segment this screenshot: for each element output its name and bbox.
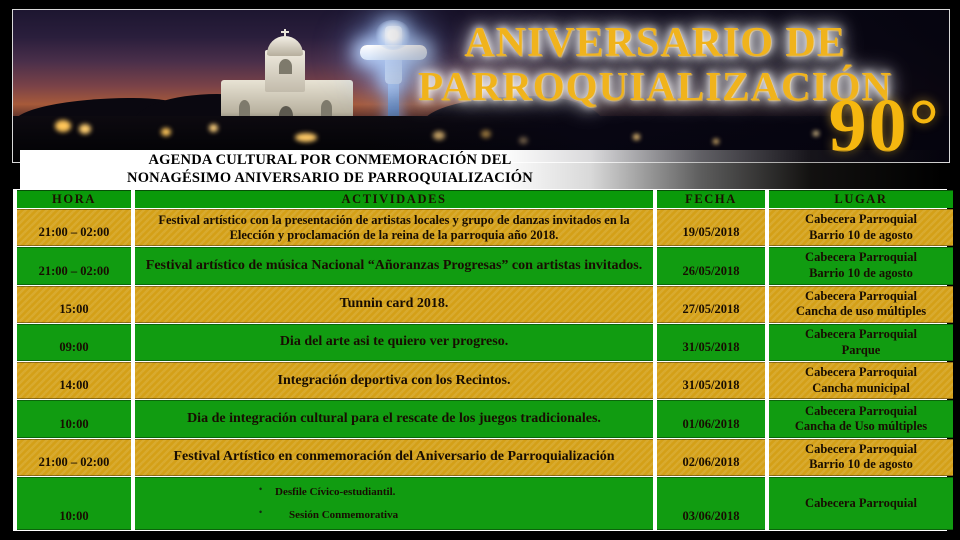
cell-hora: 09:00: [17, 324, 131, 361]
street-light: [161, 128, 171, 136]
cell-actividad: Dia de integración cultural para el resc…: [135, 400, 653, 437]
lugar-line1: Cabecera Parroquial: [773, 365, 949, 381]
lugar-line2: Barrio 10 de agosto: [773, 228, 949, 244]
column-header-fecha: FECHA: [657, 190, 765, 208]
cell-actividad: Tunnin card 2018.: [135, 286, 653, 323]
cell-lugar: Cabecera ParroquialCancha de Uso múltipl…: [769, 400, 953, 437]
church-cross-icon: [284, 29, 286, 38]
lugar-line1: Cabecera Parroquial: [773, 289, 949, 305]
cell-hora: 10:00: [17, 477, 131, 530]
cell-hora: 14:00: [17, 362, 131, 399]
bottom-black-bar: [0, 531, 960, 540]
street-light: [79, 124, 91, 134]
cell-fecha: 03/06/2018: [657, 477, 765, 530]
street-light: [209, 124, 218, 132]
cell-lugar: Cabecera ParroquialBarrio 10 de agosto: [769, 439, 953, 476]
table-row: 14:00Integración deportiva con los Recin…: [17, 362, 953, 399]
poster-root: ANIVERSARIO DE PARROQUIALIZACIÓN 90° AGE…: [0, 0, 960, 540]
heading-line1: AGENDA CULTURAL POR CONMEMORACIÓN DEL: [149, 152, 512, 170]
lugar-line1: Cabecera Parroquial: [773, 496, 949, 512]
cell-lugar: Cabecera Parroquial: [769, 477, 953, 530]
street-light: [813, 131, 819, 136]
cell-hora: 21:00 – 02:00: [17, 209, 131, 246]
cell-actividad: Desfile Cívico-estudiantil.Sesión Conmem…: [135, 477, 653, 530]
cell-lugar: Cabecera ParroquialParque: [769, 324, 953, 361]
cell-actividad: Dia del arte asi te quiero ver progreso.: [135, 324, 653, 361]
church-silhouette: [221, 46, 353, 126]
schedule-table: HORA ACTIVIDADES FECHA LUGAR 21:00 – 02:…: [13, 189, 957, 531]
cell-lugar: Cabecera ParroquialCancha de uso múltipl…: [769, 286, 953, 323]
table-row: 21:00 – 02:00Festival Artístico en conme…: [17, 439, 953, 476]
cell-fecha: 01/06/2018: [657, 400, 765, 437]
cell-fecha: 02/06/2018: [657, 439, 765, 476]
lugar-line2: Cancha de uso múltiples: [773, 304, 949, 320]
lugar-line1: Cabecera Parroquial: [773, 442, 949, 458]
lugar-line1: Cabecera Parroquial: [773, 250, 949, 266]
column-header-lugar: LUGAR: [769, 190, 953, 208]
lugar-line1: Cabecera Parroquial: [773, 212, 949, 228]
column-header-hora: HORA: [17, 190, 131, 208]
schedule-table-body: 21:00 – 02:00Festival artístico con la p…: [17, 209, 953, 530]
activity-bullet-list: Desfile Cívico-estudiantil.Sesión Conmem…: [139, 481, 649, 526]
lugar-line2: Barrio 10 de agosto: [773, 457, 949, 473]
lugar-line2: Parque: [773, 343, 949, 359]
church-window: [279, 59, 292, 74]
cell-hora: 15:00: [17, 286, 131, 323]
cell-fecha: 27/05/2018: [657, 286, 765, 323]
church-window-right: [321, 100, 332, 116]
cell-lugar: Cabecera ParroquialBarrio 10 de agosto: [769, 209, 953, 246]
street-light: [633, 134, 640, 140]
table-row: 21:00 – 02:00Festival artístico de músic…: [17, 247, 953, 284]
street-light: [55, 120, 71, 132]
cell-fecha: 26/05/2018: [657, 247, 765, 284]
lugar-line1: Cabecera Parroquial: [773, 404, 949, 420]
table-header-row: HORA ACTIVIDADES FECHA LUGAR: [17, 190, 953, 208]
cell-hora: 21:00 – 02:00: [17, 439, 131, 476]
street-light: [295, 133, 317, 142]
cell-hora: 21:00 – 02:00: [17, 247, 131, 284]
cell-actividad: Festival artístico de música Nacional “A…: [135, 247, 653, 284]
table-row: 15:00Tunnin card 2018.27/05/2018Cabecera…: [17, 286, 953, 323]
heading-text-block: AGENDA CULTURAL POR CONMEMORACIÓN DEL NO…: [20, 150, 640, 190]
cell-fecha: 31/05/2018: [657, 324, 765, 361]
cell-hora: 10:00: [17, 400, 131, 437]
lugar-line2: Cancha de Uso múltiples: [773, 419, 949, 435]
cell-fecha: 31/05/2018: [657, 362, 765, 399]
table-row: 21:00 – 02:00Festival artístico con la p…: [17, 209, 953, 246]
activity-bullet-item: Desfile Cívico-estudiantil.: [259, 481, 649, 504]
cell-lugar: Cabecera ParroquialBarrio 10 de agosto: [769, 247, 953, 284]
banner-title-line1: ANIVERSARIO DE: [375, 22, 935, 64]
table-row: 09:00Dia del arte asi te quiero ver prog…: [17, 324, 953, 361]
banner-photo: ANIVERSARIO DE PARROQUIALIZACIÓN 90°: [12, 9, 950, 163]
street-light: [713, 139, 719, 144]
column-header-actividades: ACTIVIDADES: [135, 190, 653, 208]
cell-actividad: Festival Artístico en conmemoración del …: [135, 439, 653, 476]
heading-line2: NONAGÉSIMO ANIVERSARIO DE PARROQUIALIZAC…: [127, 170, 533, 188]
lugar-line2: Barrio 10 de agosto: [773, 266, 949, 282]
cell-actividad: Integración deportiva con los Recintos.: [135, 362, 653, 399]
church-window-left: [239, 100, 250, 116]
cell-lugar: Cabecera ParroquialCancha municipal: [769, 362, 953, 399]
lugar-line2: Cancha municipal: [773, 381, 949, 397]
lugar-line1: Cabecera Parroquial: [773, 327, 949, 343]
cell-actividad: Festival artístico con la presentación d…: [135, 209, 653, 246]
table-row: 10:00Desfile Cívico-estudiantil.Sesión C…: [17, 477, 953, 530]
schedule-table-wrapper: HORA ACTIVIDADES FECHA LUGAR 21:00 – 02:…: [13, 189, 947, 531]
cell-fecha: 19/05/2018: [657, 209, 765, 246]
table-row: 10:00Dia de integración cultural para el…: [17, 400, 953, 437]
activity-bullet-item: Sesión Conmemorativa: [259, 504, 649, 527]
heading-strip: AGENDA CULTURAL POR CONMEMORACIÓN DEL NO…: [20, 150, 940, 190]
